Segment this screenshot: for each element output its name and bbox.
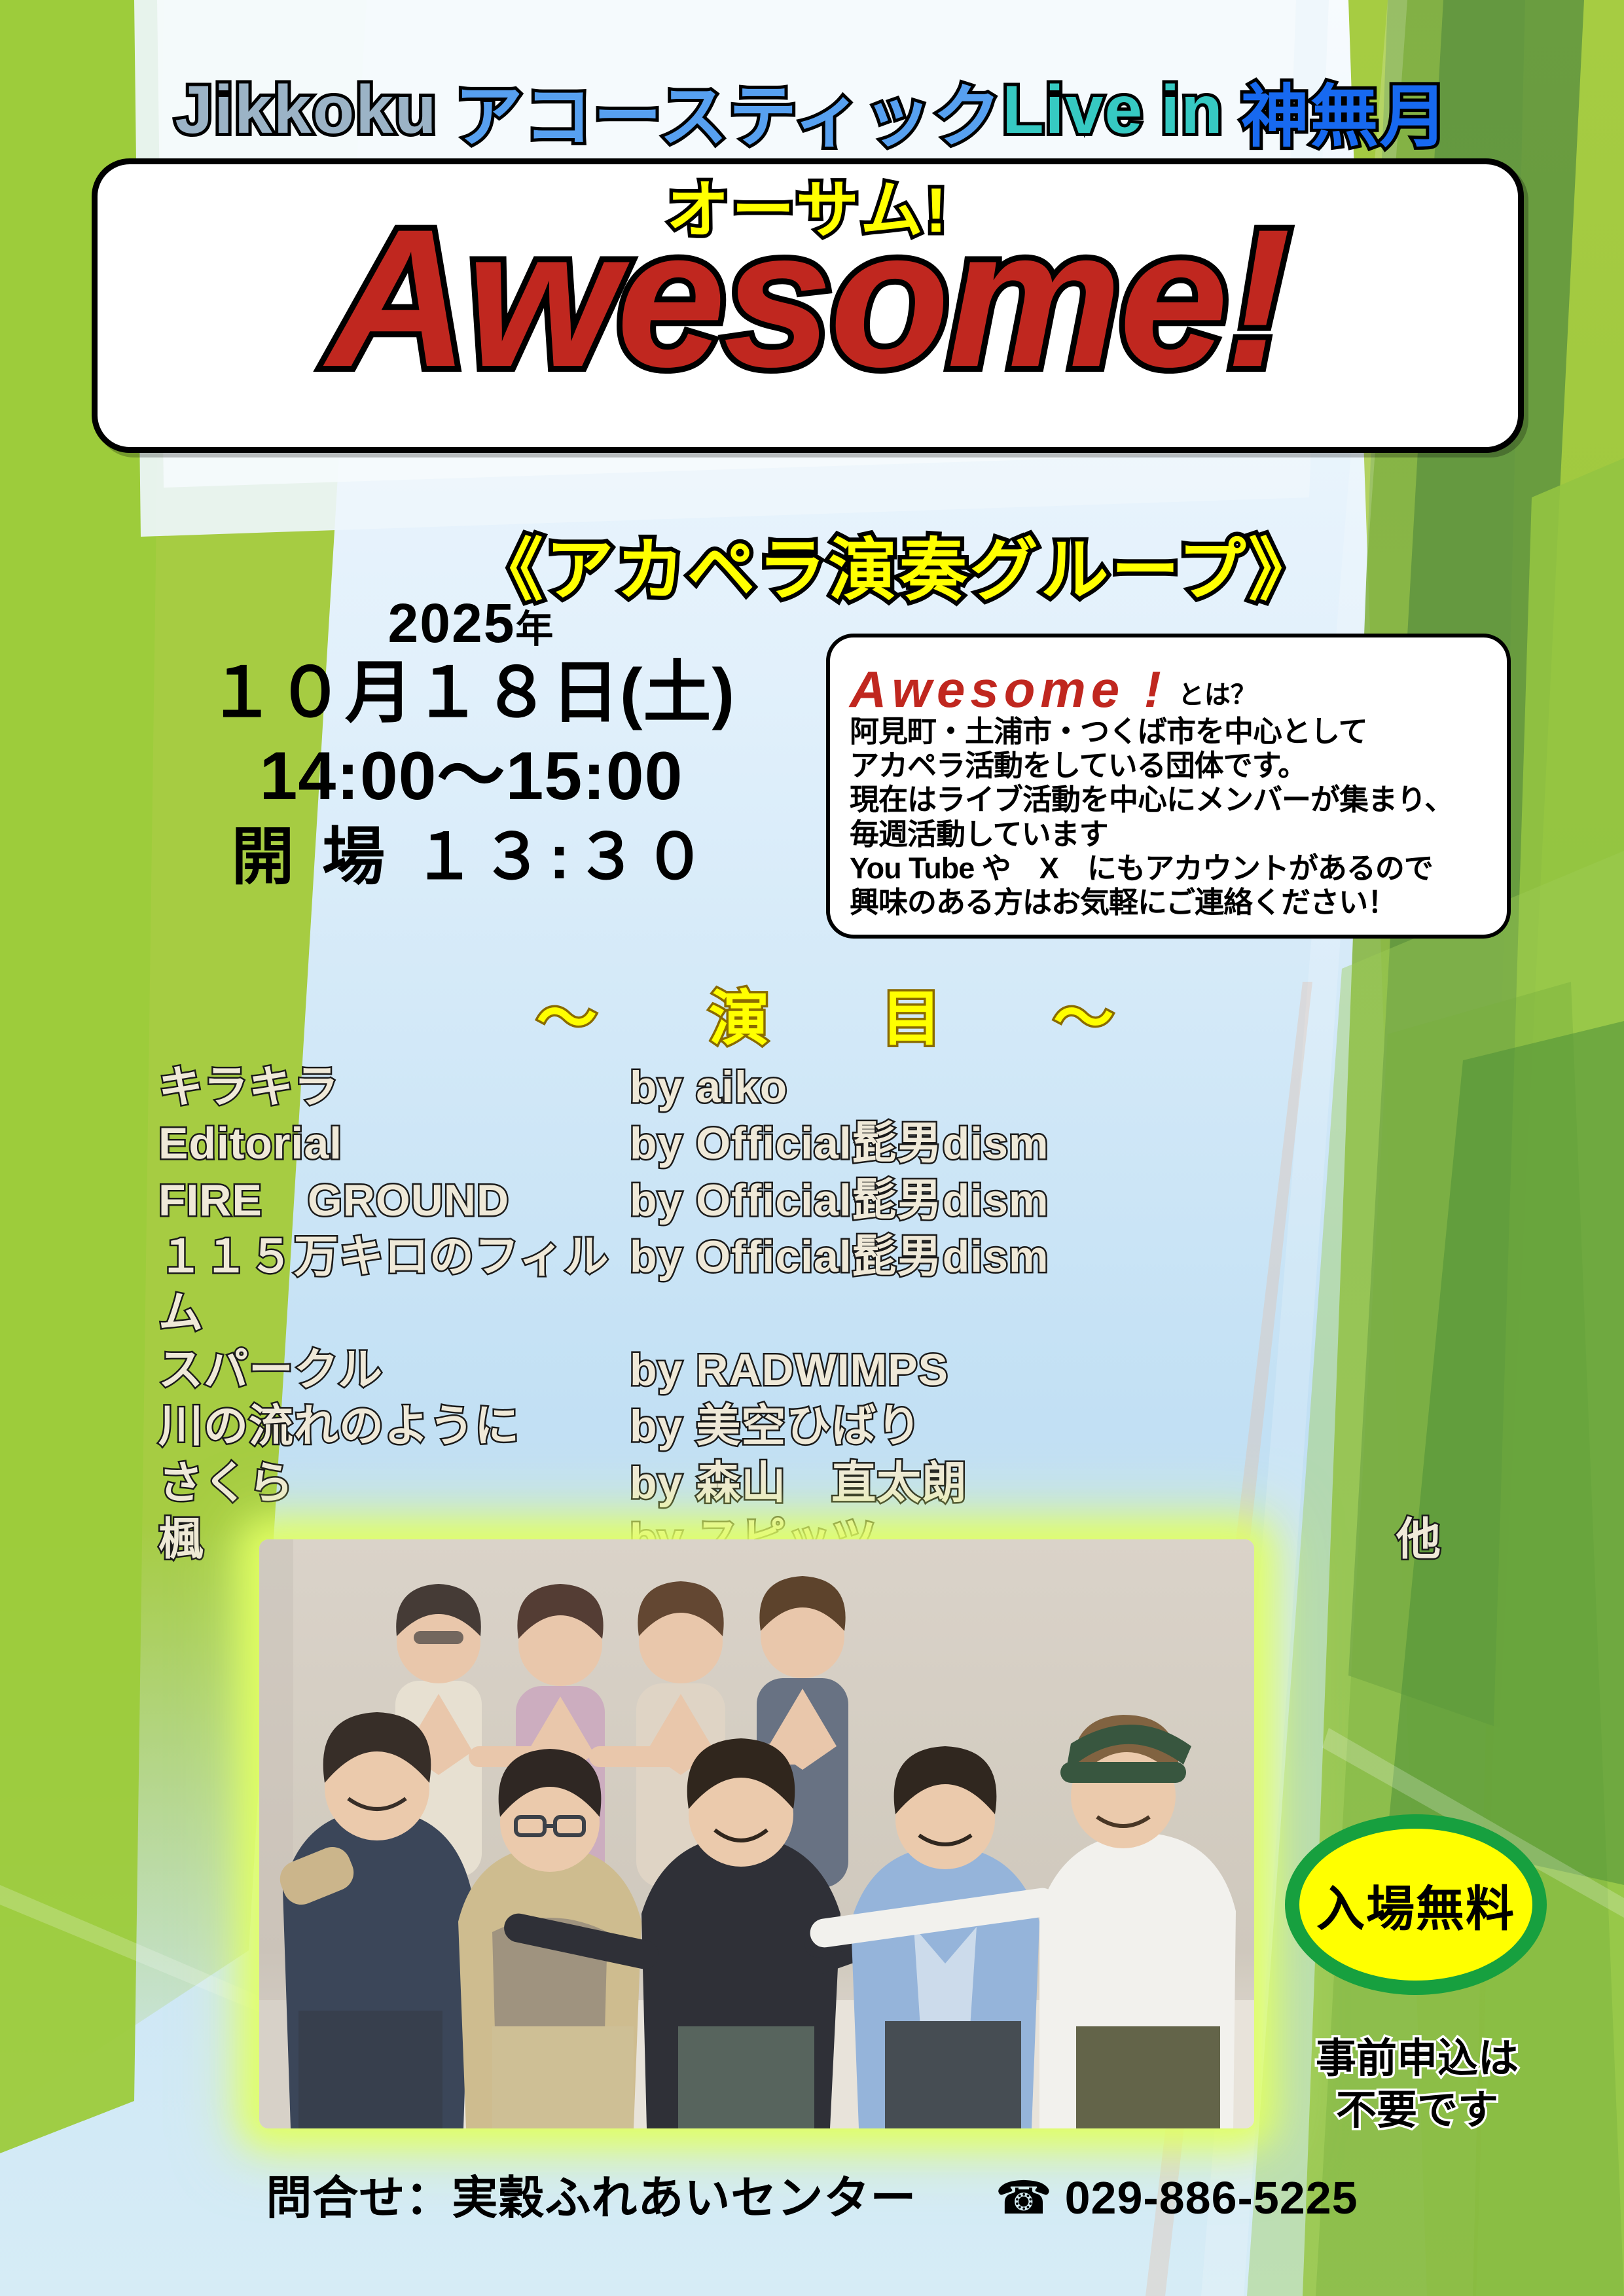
title-box: オーサム! Awesome! [92, 158, 1524, 453]
table-row: １１５万キロのフィルム by Official髭男dism [158, 1229, 1441, 1342]
event-year-number: 2025 [388, 592, 516, 654]
song-title: １１５万キロのフィルム [158, 1229, 630, 1342]
table-row: FIRE GROUND by Official髭男dism [158, 1172, 1441, 1229]
song-title: 川の流れのように [158, 1398, 630, 1454]
song-title: FIRE GROUND [158, 1172, 630, 1229]
no-registration-line-1: 事前申込は [1263, 2033, 1571, 2085]
header-acoustic: アコースティック [455, 61, 1003, 160]
song-artist: by Official髭男dism [630, 1172, 1330, 1229]
table-row: スパークル by RADWIMPS [158, 1342, 1441, 1398]
program-heading: 〜 演 目 〜 [0, 970, 1624, 1057]
program-heading-tilde-left: 〜 [537, 986, 597, 1052]
table-row: キラキラ by aiko [158, 1059, 1441, 1115]
about-heading: Awesome ! とは？ [850, 647, 1490, 715]
song-artist: by aiko [630, 1059, 1330, 1115]
song-etc: 他 [1330, 1511, 1441, 1568]
group-photo-illustration [259, 1539, 1254, 2128]
status-badge: 入場無料 [1285, 1814, 1547, 1995]
no-registration-note: 事前申込は 不要です [1263, 2033, 1571, 2137]
song-title: キラキラ [158, 1059, 630, 1115]
table-row: 川の流れのように by 美空ひばり [158, 1398, 1441, 1454]
group-photo [259, 1539, 1254, 2128]
song-title: スパークル [158, 1342, 630, 1398]
about-line-5: You Tube や X にもアカウントがあるので [850, 852, 1490, 886]
song-title: Editorial [158, 1115, 630, 1172]
header-group-name: Jikkoku [175, 71, 437, 149]
event-year: 2025年 [124, 594, 818, 652]
song-artist: by 森山 直太朗 [630, 1455, 1330, 1511]
program-heading-char-1: 演 [709, 986, 769, 1052]
header-live: Live [1002, 71, 1144, 149]
event-year-suffix: 年 [515, 608, 554, 651]
title-main: Awesome! [98, 200, 1518, 396]
about-line-4: 毎週活動しています [850, 817, 1490, 852]
header-in: in [1161, 71, 1223, 149]
about-line-3: 現在はライブ活動を中心にメンバーが集まり、 [850, 783, 1490, 817]
event-date-block: 2025年 １０月１８日(土) 14:00〜15:00 開 場 １３:３０ [124, 594, 818, 897]
program-song-list: キラキラ by aiko Editorial by Official髭男dism… [158, 1059, 1441, 1568]
about-title: Awesome ! [850, 664, 1166, 715]
event-time: 14:00〜15:00 [124, 735, 818, 818]
song-artist: by Official髭男dism [630, 1115, 1330, 1172]
contact-bar: 問合せ：実穀ふれあいセンター ☎ 029-886-5225 [0, 2161, 1624, 2227]
header-title: Jikkoku アコースティック Live in 神無月 [0, 71, 1624, 149]
about-line-6: 興味のある方はお気軽にご連絡ください！ [850, 886, 1490, 920]
program-heading-tilde-right: 〜 [1053, 986, 1113, 1052]
about-line-1: 阿見町・土浦市・つくば市を中心として [850, 715, 1490, 749]
song-artist: by 美空ひばり [630, 1398, 1330, 1454]
contact-phone-number: 029-886-5225 [1065, 2172, 1358, 2224]
event-date: １０月１８日(土) [124, 652, 818, 735]
poster-canvas: Jikkoku アコースティック Live in 神無月 オーサム! Aweso… [0, 0, 1624, 2296]
table-row: さくら by 森山 直太朗 [158, 1455, 1441, 1511]
free-admission-label: 入場無料 [1316, 1870, 1515, 1940]
contact-label: 問合せ：実穀ふれあいセンター [266, 2161, 916, 2227]
program-heading-char-2: 目 [881, 986, 941, 1052]
header-month: 神無月 [1241, 61, 1449, 160]
phone-icon: ☎ [995, 2171, 1053, 2225]
song-title: さくら [158, 1455, 630, 1511]
about-line-2: アカペラ活動をしている団体です。 [850, 749, 1490, 783]
event-doors-open: 開 場 １３:３０ [124, 818, 818, 897]
about-title-suffix: とは？ [1178, 682, 1257, 715]
about-info-box: Awesome ! とは？ 阿見町・土浦市・つくば市を中心として アカペラ活動を… [826, 634, 1511, 939]
song-artist: by Official髭男dism [630, 1229, 1330, 1285]
table-row: Editorial by Official髭男dism [158, 1115, 1441, 1172]
song-artist: by RADWIMPS [630, 1342, 1330, 1398]
no-registration-line-2: 不要です [1263, 2085, 1571, 2136]
